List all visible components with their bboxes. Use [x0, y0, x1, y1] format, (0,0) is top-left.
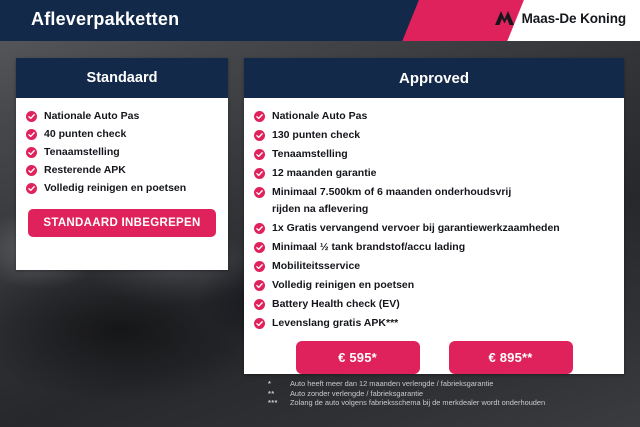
- page-title: Afleverpakketten: [31, 9, 179, 30]
- package-card-approved: Approved Nationale Auto Pas130 punten ch…: [244, 58, 624, 374]
- feature-label: Volledig reinigen en poetsen: [272, 279, 414, 293]
- feature-item: Levenslang gratis APK***: [254, 317, 614, 331]
- feature-list-approved: Nationale Auto Pas130 punten checkTenaam…: [254, 110, 614, 331]
- feature-item: Minimaal ½ tank brandstof/accu lading: [254, 241, 614, 255]
- check-circle-icon: [254, 261, 265, 272]
- check-circle-icon: [254, 168, 265, 179]
- feature-label: 12 maanden garantie: [272, 167, 376, 181]
- feature-label: Mobiliteitsservice: [272, 260, 360, 274]
- check-circle-icon: [26, 147, 37, 158]
- feature-item: Minimaal 7.500km of 6 maanden onderhouds…: [254, 186, 614, 217]
- card-title-standaard: Standaard: [16, 58, 228, 98]
- feature-item: Resterende APK: [26, 164, 218, 177]
- feature-label: 40 punten check: [44, 128, 126, 141]
- feature-item: 1x Gratis vervangend vervoer bij garanti…: [254, 222, 614, 236]
- maas-de-koning-m-mark-icon: [494, 10, 515, 26]
- check-circle-icon: [26, 165, 37, 176]
- footnote-row: *Auto heeft meer dan 12 maanden verlengd…: [268, 379, 624, 389]
- check-circle-icon: [26, 183, 37, 194]
- check-circle-icon: [254, 149, 265, 160]
- brand-logo: Maas-De Koning: [494, 10, 626, 26]
- footnote-text: Zolang de auto volgens fabrieksschema bi…: [290, 398, 624, 408]
- feature-item: 12 maanden garantie: [254, 167, 614, 181]
- feature-label: Battery Health check (EV): [272, 298, 400, 312]
- feature-item: Volledig reinigen en poetsen: [254, 279, 614, 293]
- feature-item: 40 punten check: [26, 128, 218, 141]
- feature-label: Tenaamstelling: [44, 146, 120, 159]
- footnote-marker: ***: [268, 398, 290, 408]
- footnotes: *Auto heeft meer dan 12 maanden verlengd…: [268, 379, 624, 408]
- card-title-approved: Approved: [244, 58, 624, 98]
- footnote-text: Auto zonder verlengde / fabrieksgarantie: [290, 389, 624, 399]
- footnote-marker: **: [268, 389, 290, 399]
- feature-label: Resterende APK: [44, 164, 126, 177]
- price-button-1[interactable]: € 595*: [296, 341, 420, 374]
- feature-item: Tenaamstelling: [26, 146, 218, 159]
- check-circle-icon: [254, 318, 265, 329]
- standaard-inbegrepen-button[interactable]: STANDAARD INBEGREPEN: [28, 209, 216, 237]
- price-button-row: € 595*€ 895**: [254, 341, 614, 374]
- card-body-approved: Nationale Auto Pas130 punten checkTenaam…: [244, 98, 624, 384]
- feature-label: Levenslang gratis APK***: [272, 317, 398, 331]
- feature-list-standaard: Nationale Auto Pas40 punten checkTenaams…: [26, 110, 218, 195]
- package-card-standaard: Standaard Nationale Auto Pas40 punten ch…: [16, 58, 228, 270]
- check-circle-icon: [26, 111, 37, 122]
- footnote-marker: *: [268, 379, 290, 389]
- card-body-standaard: Nationale Auto Pas40 punten checkTenaams…: [16, 98, 228, 247]
- check-circle-icon: [254, 111, 265, 122]
- feature-label: 1x Gratis vervangend vervoer bij garanti…: [272, 222, 560, 236]
- check-circle-icon: [254, 280, 265, 291]
- feature-item: Mobiliteitsservice: [254, 260, 614, 274]
- check-circle-icon: [254, 187, 265, 198]
- feature-item: Nationale Auto Pas: [254, 110, 614, 124]
- check-circle-icon: [254, 223, 265, 234]
- feature-label: Minimaal 7.500km of 6 maanden onderhouds…: [272, 186, 511, 217]
- footnote-text: Auto heeft meer dan 12 maanden verlengde…: [290, 379, 624, 389]
- feature-item: Volledig reinigen en poetsen: [26, 182, 218, 195]
- feature-label: Tenaamstelling: [272, 148, 348, 162]
- brand-name: Maas-De Koning: [522, 11, 626, 26]
- check-circle-icon: [26, 129, 37, 140]
- check-circle-icon: [254, 242, 265, 253]
- feature-label: Volledig reinigen en poetsen: [44, 182, 186, 195]
- check-circle-icon: [254, 299, 265, 310]
- feature-item: Nationale Auto Pas: [26, 110, 218, 123]
- footnote-row: **Auto zonder verlengde / fabrieksgarant…: [268, 389, 624, 399]
- feature-item: Battery Health check (EV): [254, 298, 614, 312]
- footnote-row: ***Zolang de auto volgens fabrieksschema…: [268, 398, 624, 408]
- price-button-2[interactable]: € 895**: [449, 341, 573, 374]
- feature-label: Nationale Auto Pas: [44, 110, 139, 123]
- feature-label-continuation: rijden na aflevering: [272, 203, 511, 217]
- feature-label: 130 punten check: [272, 129, 360, 143]
- feature-item: 130 punten check: [254, 129, 614, 143]
- feature-item: Tenaamstelling: [254, 148, 614, 162]
- check-circle-icon: [254, 130, 265, 141]
- feature-label: Minimaal ½ tank brandstof/accu lading: [272, 241, 465, 255]
- feature-label: Nationale Auto Pas: [272, 110, 367, 124]
